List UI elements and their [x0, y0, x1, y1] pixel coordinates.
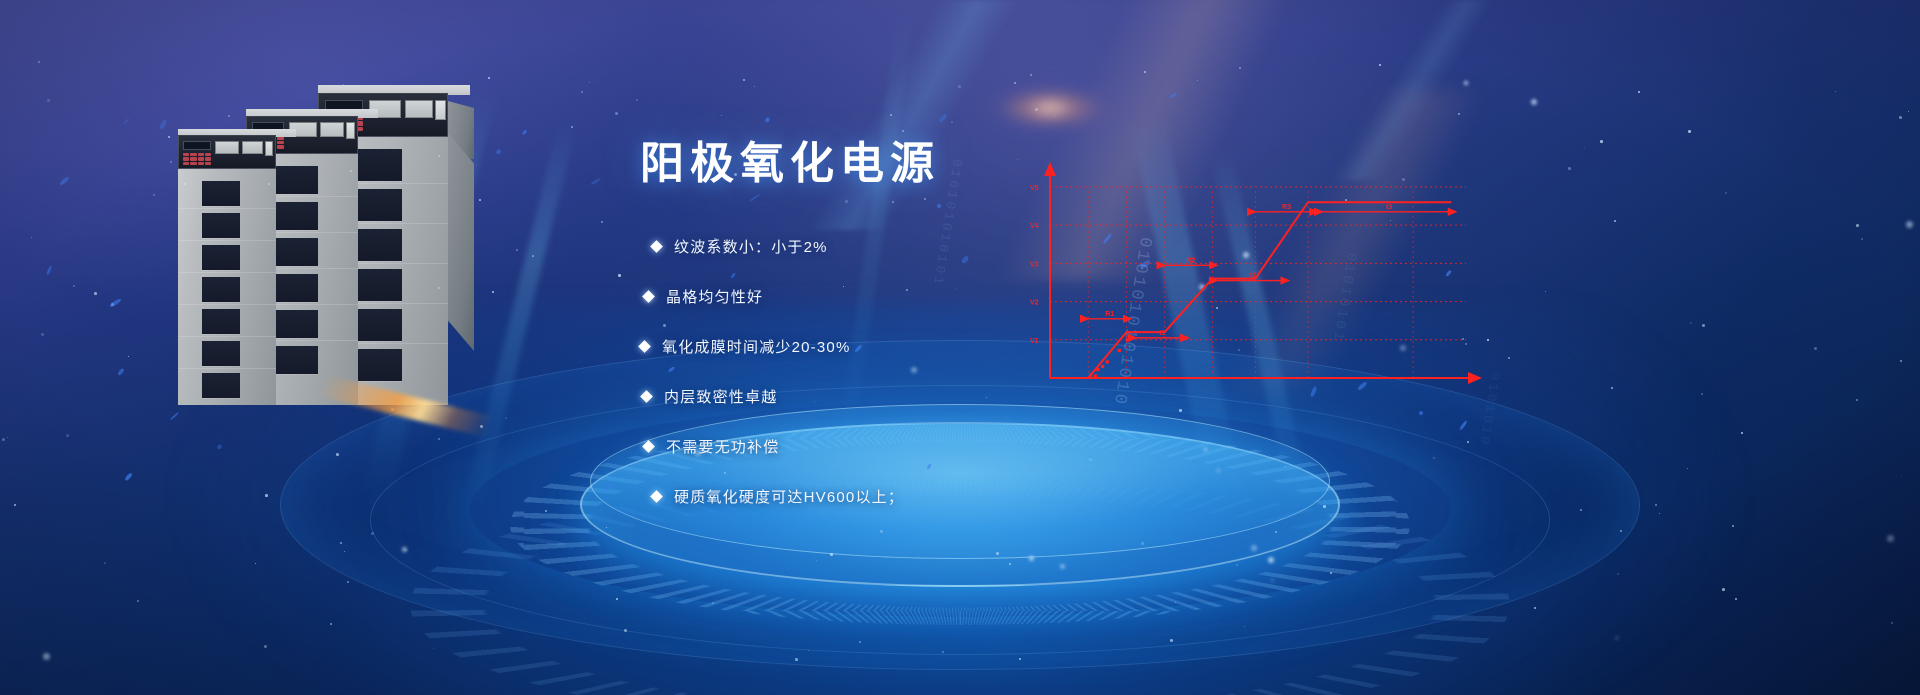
svg-text:t2: t2 — [1250, 273, 1256, 280]
diamond-bullet-icon — [650, 491, 663, 504]
svg-text:R3: R3 — [1282, 204, 1291, 211]
particle — [1835, 91, 1836, 92]
list-item: 不需要无功补偿 — [644, 436, 1200, 457]
svg-text:V5: V5 — [1030, 185, 1039, 192]
particle-shard — [46, 265, 52, 275]
list-item-label: 晶格均匀性好 — [666, 286, 763, 307]
particle — [1908, 111, 1909, 112]
list-item: 硬质氧化硬度可达HV600以上； — [652, 486, 1200, 507]
particle — [153, 194, 155, 196]
chart-canvas: V1V2V3V4V5R1t1R2t2R3t3 — [1010, 150, 1510, 400]
particle-shard — [159, 119, 168, 130]
particle — [581, 91, 583, 93]
svg-text:t3: t3 — [1386, 204, 1392, 211]
svg-text:R1: R1 — [1105, 311, 1114, 318]
particle-shard — [59, 176, 70, 186]
list-item-label: 内层致密性卓越 — [664, 386, 777, 407]
cabinet-body — [178, 169, 276, 405]
product-banner: 01010101010101 010101010101 010101010101… — [0, 0, 1920, 695]
particle — [618, 274, 621, 277]
cabinet-label-plate-b — [320, 122, 344, 137]
diamond-bullet-icon — [638, 341, 651, 354]
particle — [73, 285, 75, 287]
cabinet-label-plate-a — [215, 141, 239, 154]
particle-shard — [123, 118, 130, 125]
cabinet-control-panel — [178, 135, 276, 169]
cabinet-meter — [435, 100, 446, 120]
particle — [1899, 116, 1902, 119]
particle — [94, 292, 97, 295]
svg-text:V4: V4 — [1030, 223, 1039, 230]
list-item-label: 纹波系数小：小于2% — [674, 236, 828, 257]
cabinet-label-plate-b — [242, 141, 263, 154]
cabinet-display — [183, 141, 211, 150]
power-cabinet-group — [170, 85, 500, 415]
diamond-bullet-icon — [650, 241, 663, 254]
svg-text:V2: V2 — [1030, 300, 1039, 307]
particle — [38, 61, 40, 63]
particle-shard — [522, 130, 527, 135]
voltage-time-schematic-chart: V1V2V3V4V5R1t1R2t2R3t3 — [1010, 150, 1510, 400]
cabinet-keypad[interactable] — [183, 153, 211, 165]
particle — [516, 249, 518, 251]
svg-text:V3: V3 — [1030, 261, 1039, 268]
cabinet-side-panel-lower — [448, 133, 474, 351]
lens-flare-core-icon — [970, 78, 1130, 138]
particle — [488, 77, 490, 79]
particle — [31, 237, 32, 238]
svg-text:V1: V1 — [1030, 338, 1039, 345]
cabinet-meter — [265, 141, 273, 156]
particle — [47, 99, 50, 102]
diamond-bullet-icon — [642, 441, 655, 454]
diamond-bullet-icon — [640, 391, 653, 404]
list-item-label: 硬质氧化硬度可达HV600以上； — [674, 486, 904, 507]
list-item-label: 不需要无功补偿 — [666, 436, 779, 457]
particle — [1725, 192, 1727, 194]
cabinet-meter — [346, 122, 355, 139]
particle — [1861, 238, 1863, 240]
diamond-bullet-icon — [642, 291, 655, 304]
particle — [1906, 221, 1913, 228]
cabinet-label-plate-b — [405, 100, 433, 118]
particle — [1856, 224, 1859, 227]
svg-text:t1: t1 — [1159, 330, 1165, 337]
particle — [589, 82, 590, 83]
list-item-label: 氧化成膜时间减少20-30% — [662, 336, 851, 357]
svg-text:R2: R2 — [1186, 257, 1195, 264]
